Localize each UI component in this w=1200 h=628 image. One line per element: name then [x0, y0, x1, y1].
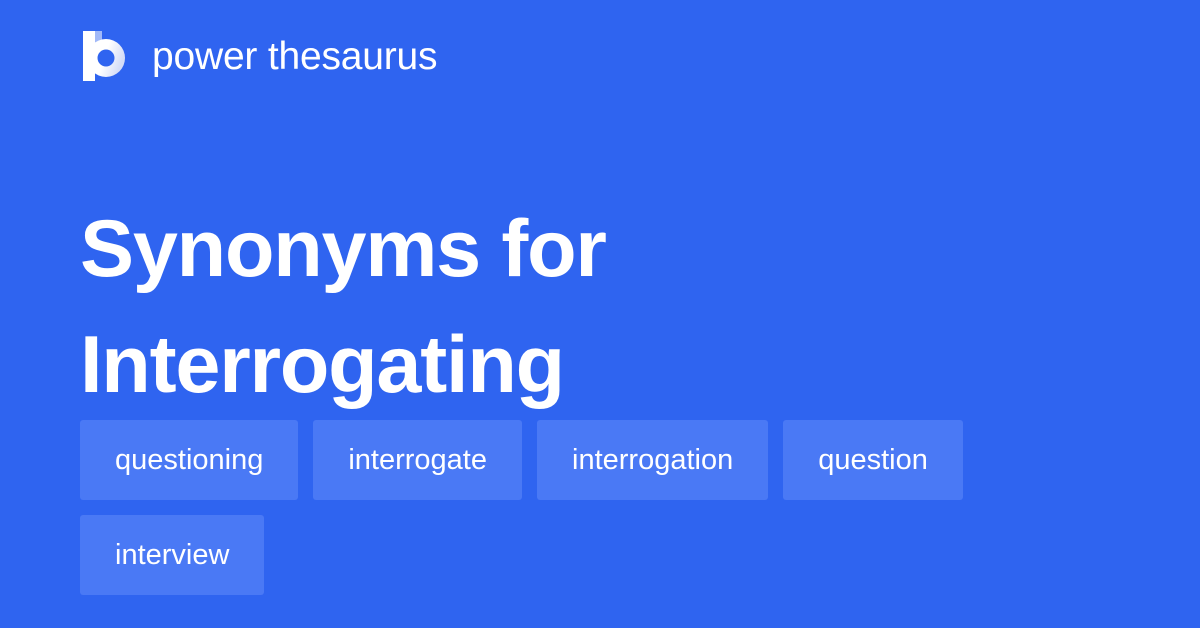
page-title: Synonyms for Interrogating	[80, 191, 1120, 423]
share-card: power thesaurus Synonyms for Interrogati…	[0, 0, 1200, 628]
brand-name: power thesaurus	[152, 37, 437, 76]
brand-header: power thesaurus	[80, 28, 437, 84]
page-title-line-1: Synonyms for	[80, 191, 1120, 307]
page-title-line-2: Interrogating	[80, 307, 1120, 423]
synonym-chip[interactable]: questioning	[80, 420, 298, 500]
power-thesaurus-logo-icon	[80, 31, 126, 81]
synonym-chip[interactable]: interview	[80, 515, 264, 595]
synonym-chip[interactable]: interrogation	[537, 420, 768, 500]
synonym-chip[interactable]: interrogate	[313, 420, 522, 500]
synonym-chip[interactable]: question	[783, 420, 963, 500]
synonym-chip-list: questioning interrogate interrogation qu…	[80, 420, 1120, 595]
